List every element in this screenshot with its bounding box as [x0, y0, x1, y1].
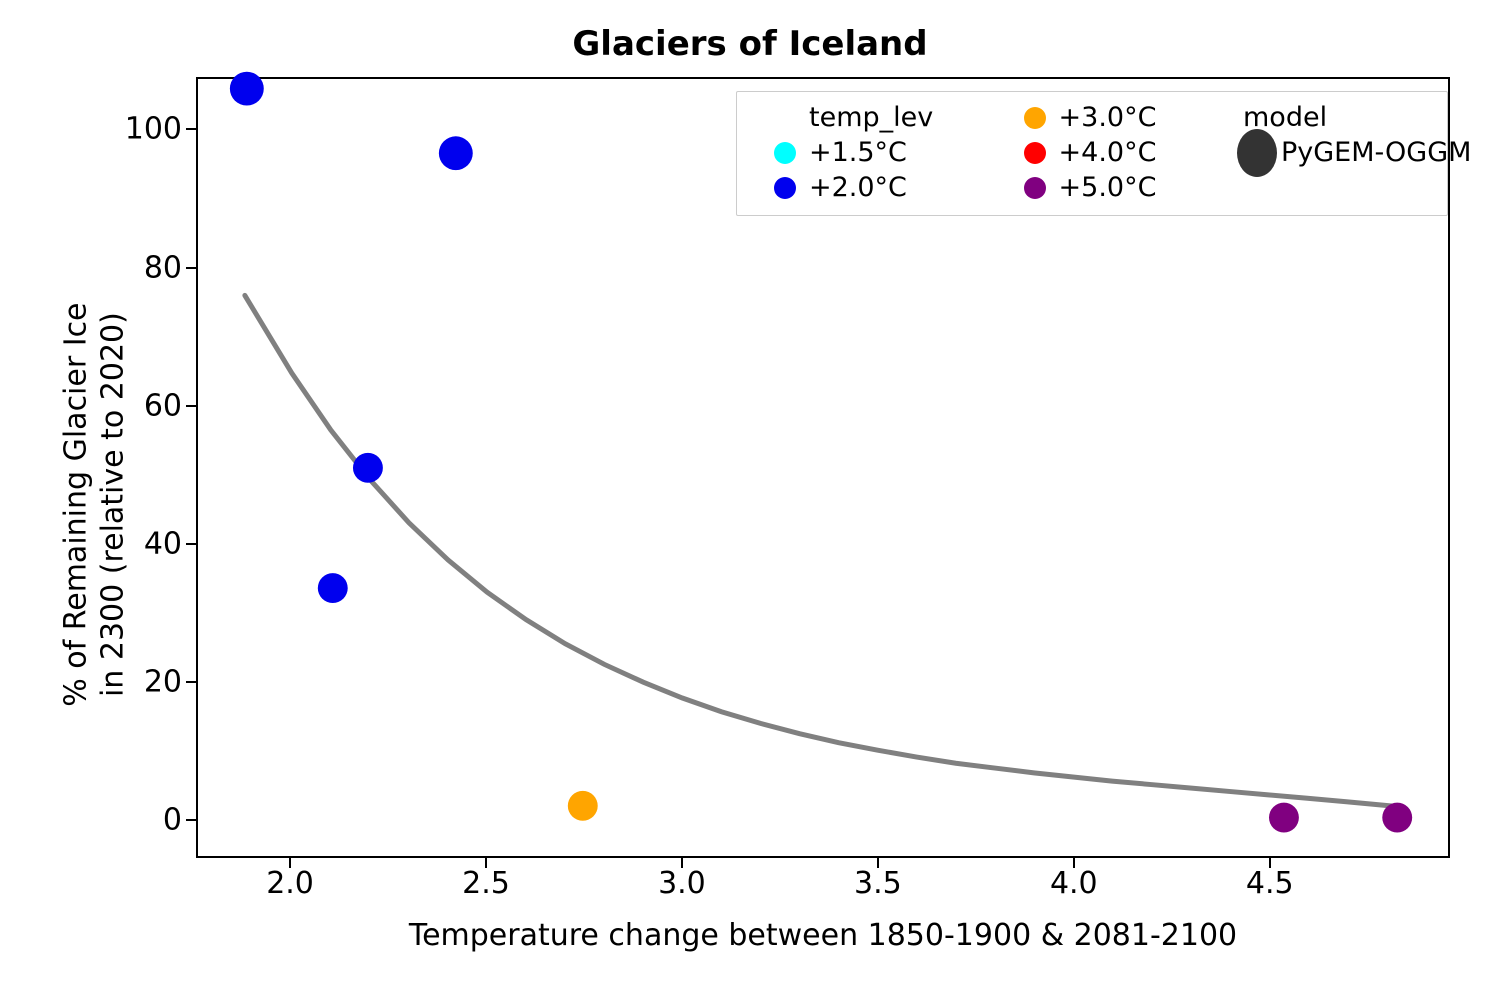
legend-label: PyGEM-OGGM [1277, 137, 1471, 168]
x-tick-label: 2.5 [462, 866, 510, 901]
scatter-point[interactable] [1269, 803, 1299, 833]
chart-legend: temp_lev +1.5°C +2.0°C +3.0°C +4.0°C [736, 91, 1448, 216]
legend-dot-icon [1237, 129, 1277, 177]
y-tick-label: 80 [144, 250, 182, 285]
scatter-point[interactable] [318, 573, 348, 603]
scatter-point[interactable] [353, 453, 383, 483]
y-tick-mark [186, 267, 196, 269]
legend-item-temp-5-0[interactable]: +5.0°C [1015, 170, 1237, 205]
legend-group-title-temp-lev: temp_lev [765, 102, 933, 133]
y-axis-label: % of Remaining Glacier Ice in 2300 (rela… [58, 155, 131, 855]
y-tick-label: 0 [163, 803, 182, 838]
legend-item-temp-1-5[interactable]: +1.5°C [765, 135, 1015, 170]
legend-label: +4.0°C [1055, 137, 1157, 168]
legend-label: +3.0°C [1055, 102, 1157, 133]
y-tick-label: 40 [144, 526, 182, 561]
y-tick-label: 100 [125, 112, 182, 147]
chart-title: Glaciers of Iceland [0, 24, 1500, 64]
fit-curve [245, 295, 1397, 806]
legend-title-row-temp-lev: temp_lev [765, 100, 1015, 135]
x-axis-label: Temperature change between 1850-1900 & 2… [196, 918, 1450, 953]
y-tick-label: 20 [144, 664, 182, 699]
scatter-point[interactable] [439, 136, 473, 170]
y-tick-mark [186, 819, 196, 821]
legend-column-temp-lev-b: +3.0°C +4.0°C +5.0°C [1015, 100, 1237, 205]
legend-column-model: model PyGEM-OGGM [1237, 100, 1437, 170]
legend-dot-icon [765, 177, 805, 199]
scatter-point[interactable] [230, 72, 264, 106]
legend-item-temp-4-0[interactable]: +4.0°C [1015, 135, 1237, 170]
legend-dot-icon [1015, 142, 1055, 164]
legend-item-model-pygem-oggm[interactable]: PyGEM-OGGM [1237, 135, 1437, 170]
y-tick-mark [186, 405, 196, 407]
legend-label: +1.5°C [805, 137, 907, 168]
y-tick-mark [186, 128, 196, 130]
x-tick-label: 2.0 [266, 866, 314, 901]
x-tick-label: 3.5 [854, 866, 902, 901]
scatter-point[interactable] [1382, 803, 1412, 833]
legend-item-temp-2-0[interactable]: +2.0°C [765, 170, 1015, 205]
legend-item-temp-3-0[interactable]: +3.0°C [1015, 100, 1237, 135]
y-tick-label: 60 [144, 388, 182, 423]
legend-column-temp-lev-a: temp_lev +1.5°C +2.0°C [747, 100, 1015, 205]
x-tick-label: 3.0 [658, 866, 706, 901]
legend-label: +2.0°C [805, 172, 907, 203]
x-tick-label: 4.5 [1246, 866, 1294, 901]
y-tick-mark [186, 681, 196, 683]
chart-figure: Glaciers of Iceland 020406080100 % of Re… [0, 0, 1500, 1000]
legend-label: +5.0°C [1055, 172, 1157, 203]
legend-dot-icon [1015, 177, 1055, 199]
x-tick-label: 4.0 [1050, 866, 1098, 901]
legend-dot-icon [1015, 107, 1055, 129]
y-tick-mark [186, 543, 196, 545]
legend-dot-icon [765, 142, 805, 164]
scatter-point[interactable] [568, 791, 598, 821]
